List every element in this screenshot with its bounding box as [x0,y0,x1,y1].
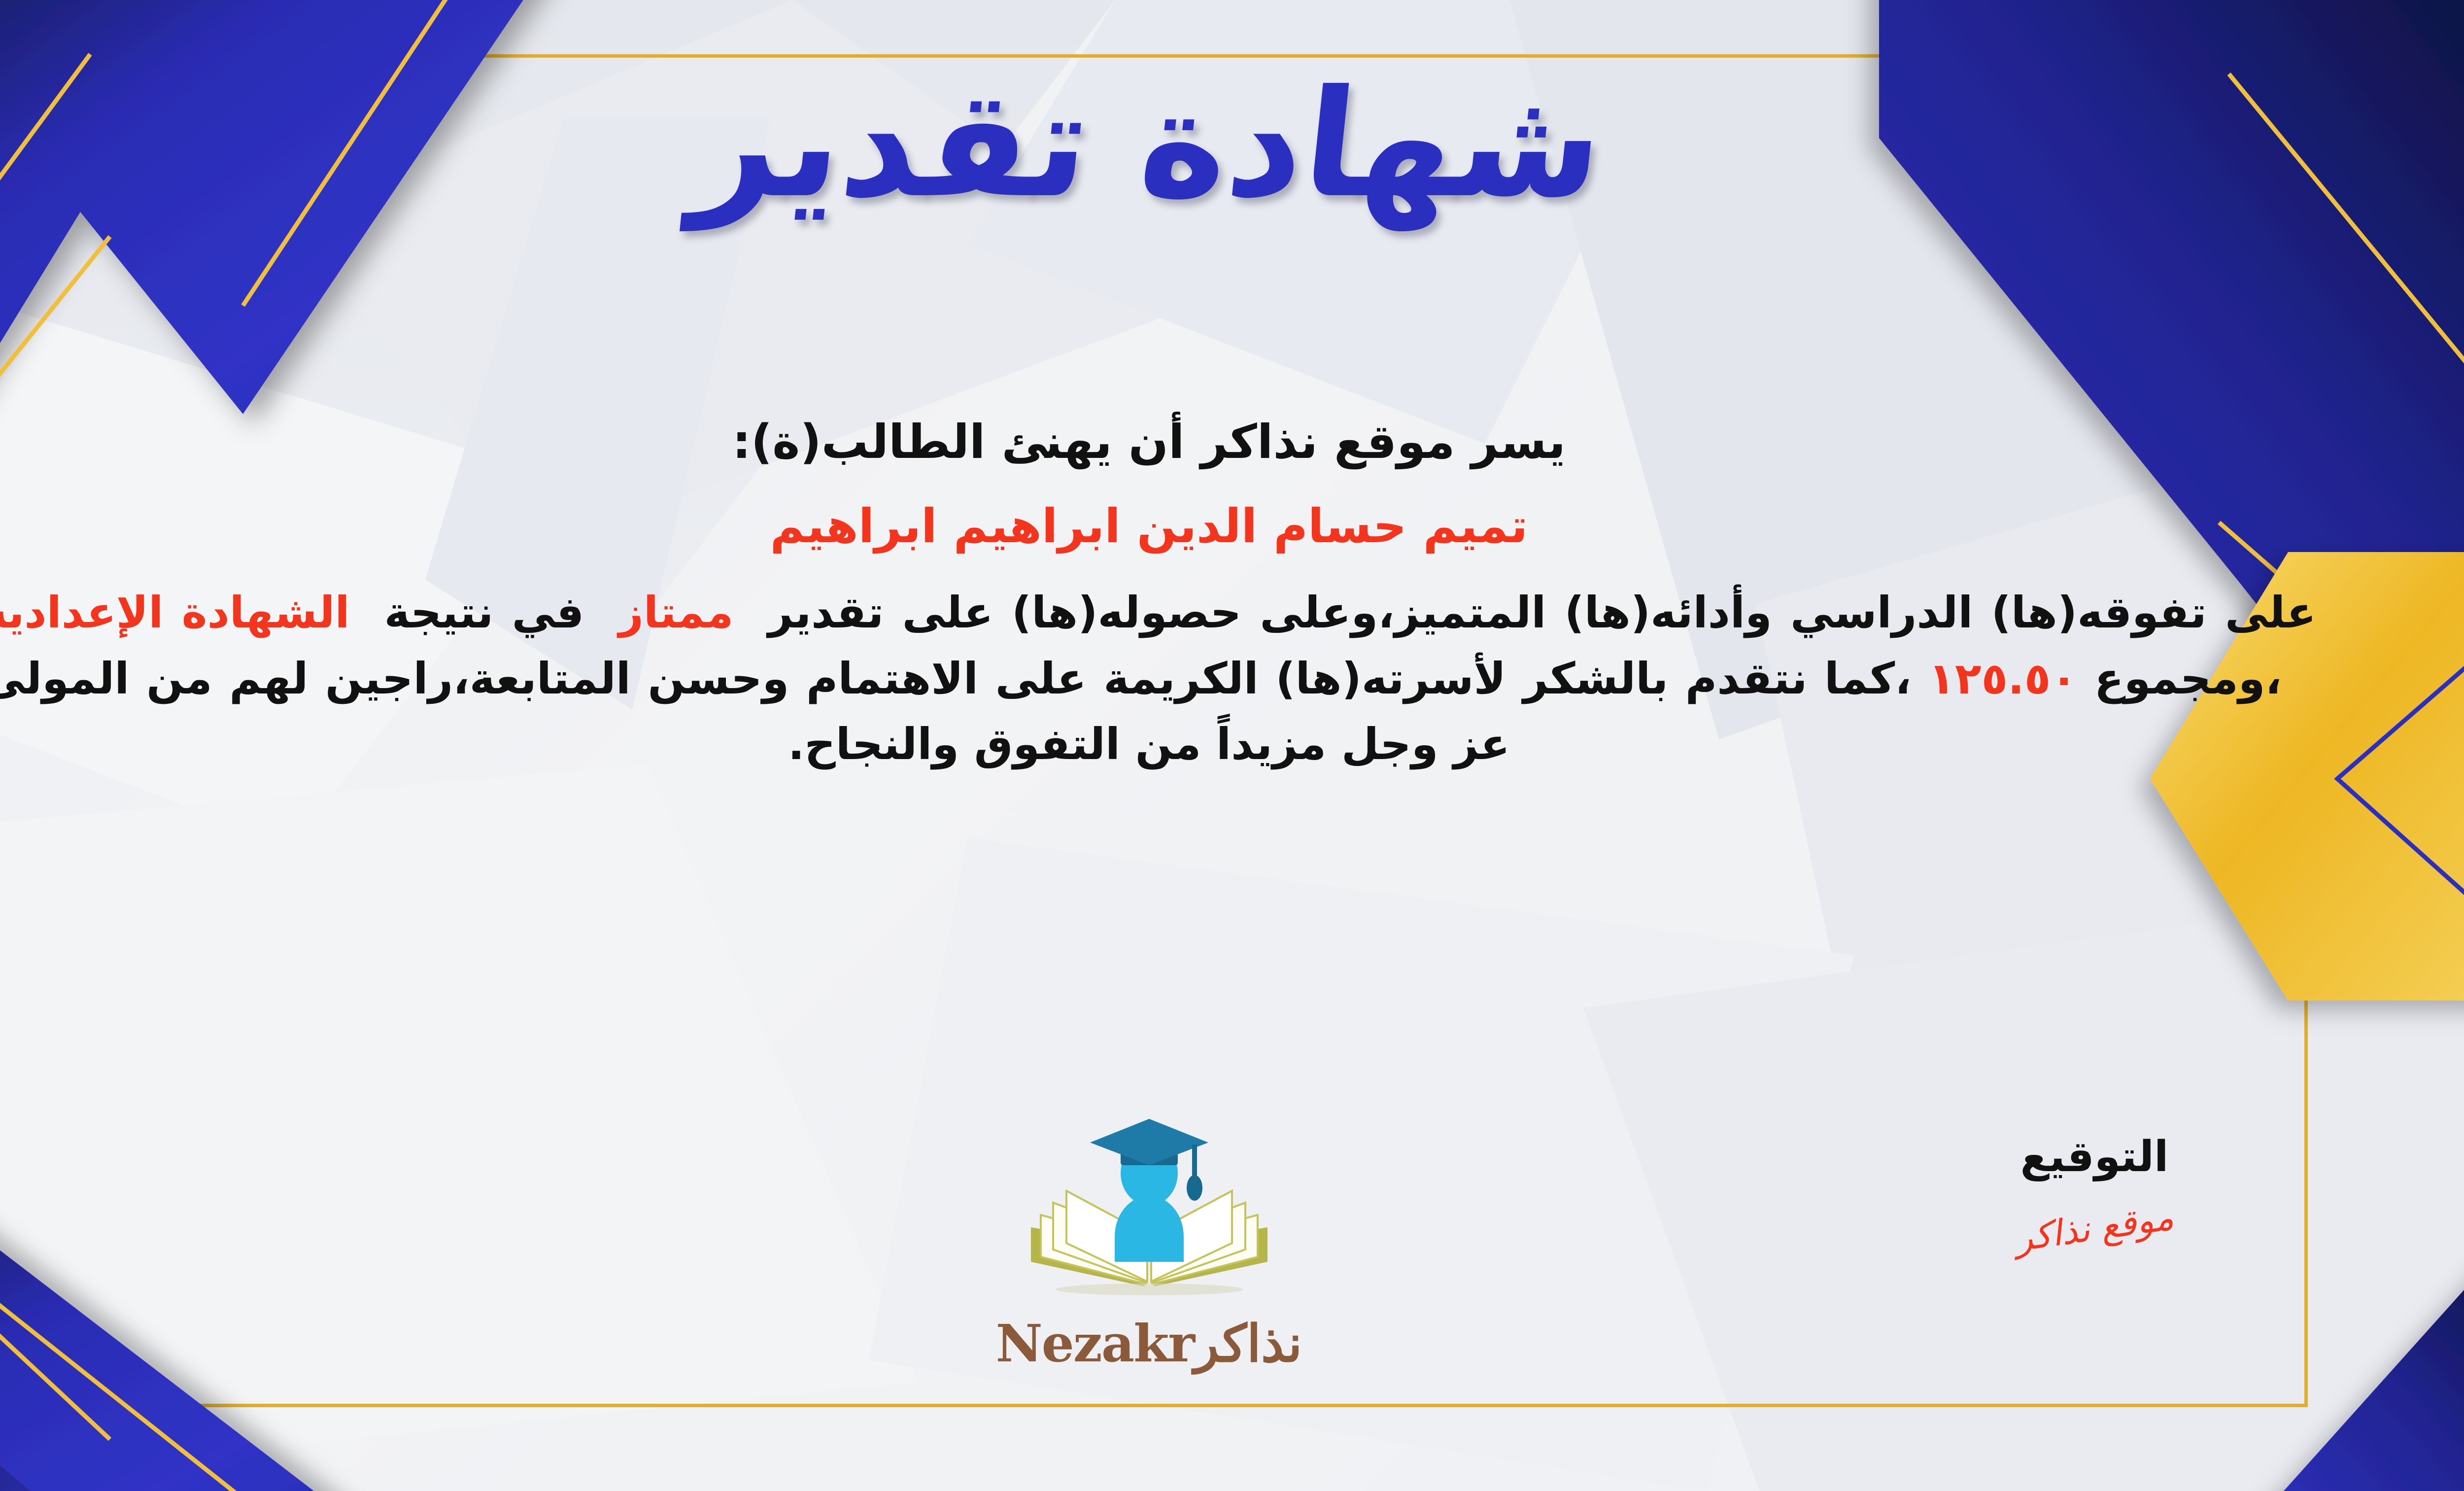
total-score: ١٢٥.٥٠ [1928,653,2077,704]
citation-segment-1: على تفوقه(ها) الدراسي وأدائه(ها) المتميز… [768,587,2316,638]
signature-label: التوقيع [1873,1134,2316,1180]
certificate-canvas: شهادة تقدير يسر موقع نذاكر أن يهنئ الطال… [0,0,2464,1491]
certificate-body: يسر موقع نذاكر أن يهنئ الطالب(ة): تميم ح… [0,409,2316,777]
certificate-title: شهادة تقدير [687,67,1611,222]
citation-paragraph: على تفوقه(ها) الدراسي وأدائه(ها) المتميز… [0,580,2316,777]
signature-mark: موقع نذاكر [2013,1196,2176,1259]
certificate-footer: التوقيع موقع نذاكر [0,1134,2316,1439]
grade-value: ممتاز [618,587,733,638]
intro-line: يسر موقع نذاكر أن يهنئ الطالب(ة): [0,409,2316,476]
brand-logo: نذاكرNezakr [962,1114,1336,1374]
certificate-title-wrap: شهادة تقدير [0,67,2464,222]
graduate-book-icon [1011,1114,1287,1311]
citation-segment-2: في نتيجة [384,587,584,638]
student-name: تميم حسام الدين ابراهيم ابراهيم [0,493,2316,560]
brand-name-latin: Nezakr [996,1313,1195,1374]
certificate-stage: الشهادة الإعدادية [0,587,350,638]
citation-segment-4: ،كما نتقدم بالشكر لأسرته(ها) الكريمة على… [0,653,1912,770]
citation-segment-3: ،ومجموع [2094,653,2282,704]
brand-name: نذاكرNezakr [962,1313,1336,1374]
signature-block: التوقيع موقع نذاكر [1873,1134,2316,1248]
brand-name-arabic: نذاكر [1194,1313,1302,1374]
